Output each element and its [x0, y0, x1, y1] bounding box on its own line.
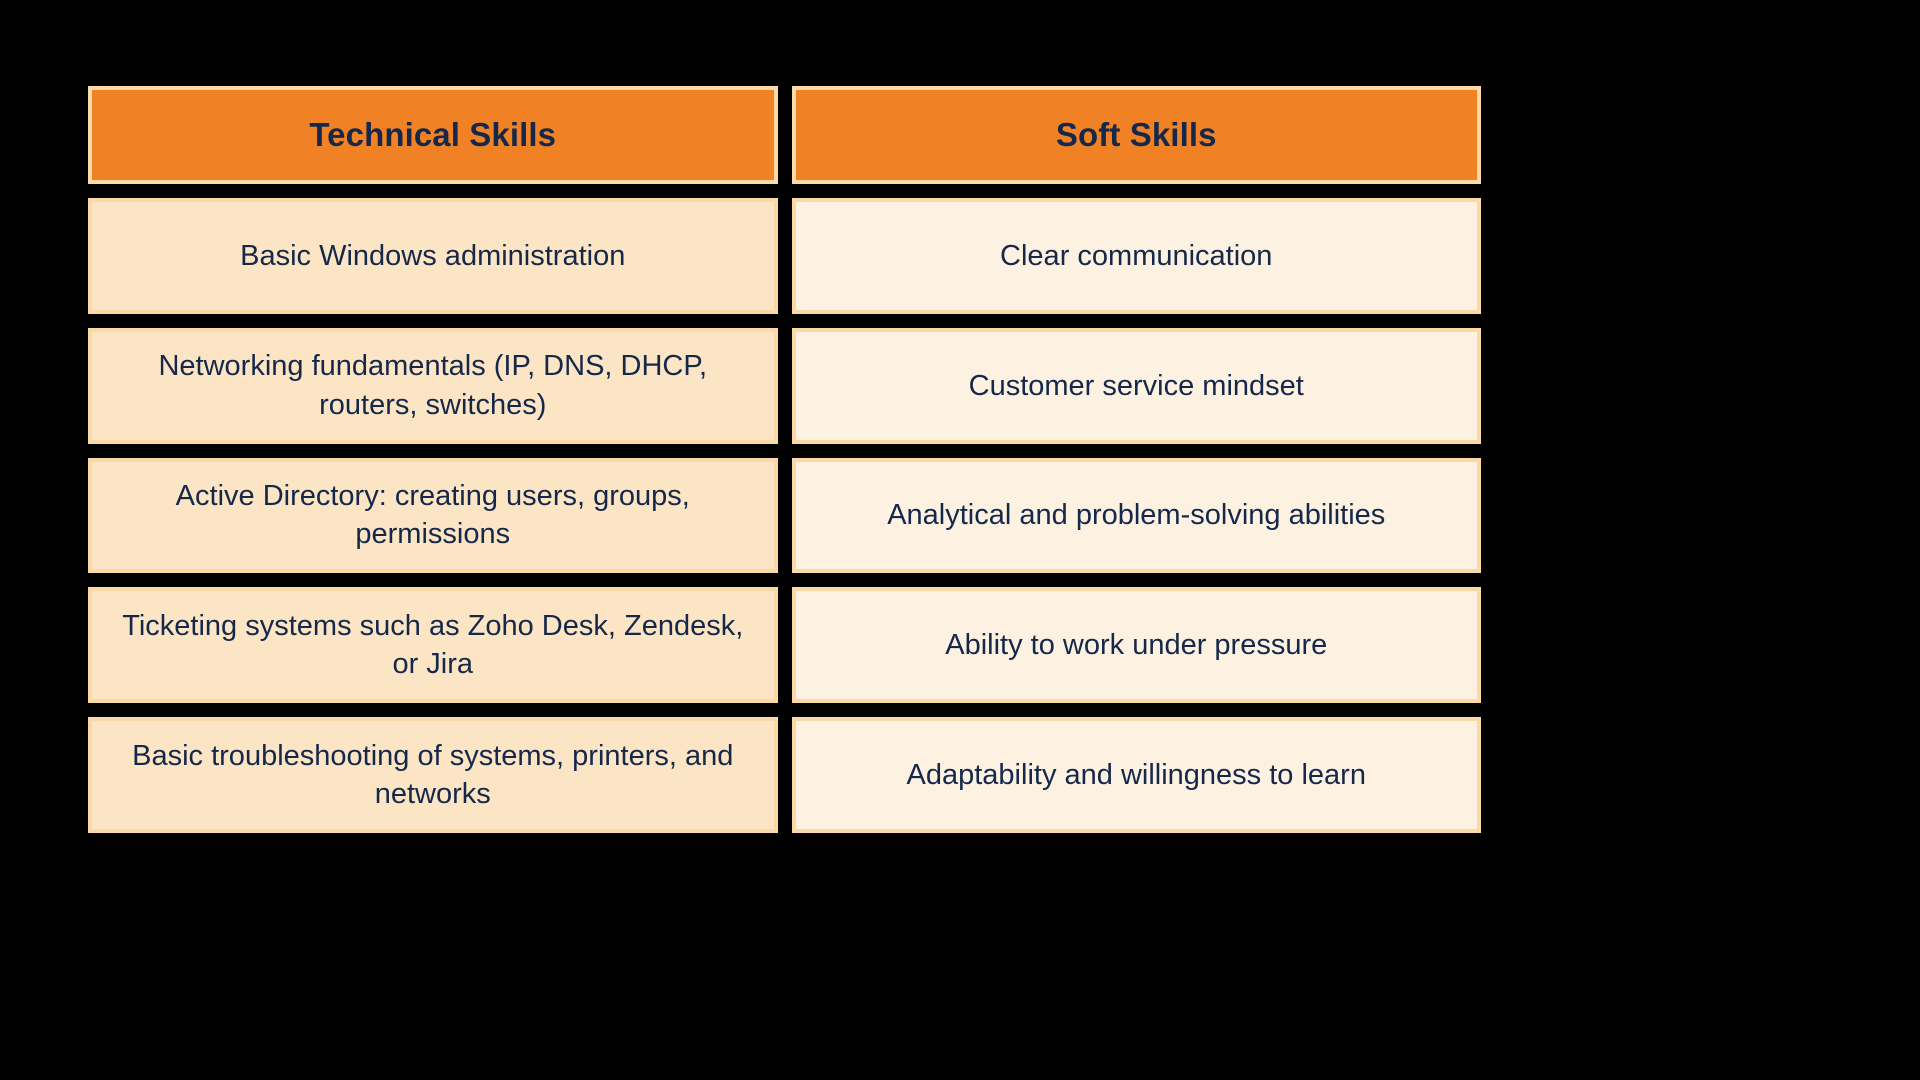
table-row: Active Directory: creating users, groups…	[88, 458, 778, 574]
column-soft-skills: Soft Skills Clear communication Customer…	[792, 86, 1482, 833]
slide-canvas: Technical Skills Basic Windows administr…	[0, 0, 1920, 1080]
column-header-soft-skills: Soft Skills	[792, 86, 1482, 184]
column-header-label: Technical Skills	[309, 116, 556, 154]
cell-label: Networking fundamentals (IP, DNS, DHCP, …	[110, 347, 756, 424]
skills-comparison-table: Technical Skills Basic Windows administr…	[88, 86, 1481, 833]
cell-label: Ticketing systems such as Zoho Desk, Zen…	[110, 607, 756, 684]
cell-label: Active Directory: creating users, groups…	[110, 477, 756, 554]
table-row: Ticketing systems such as Zoho Desk, Zen…	[88, 587, 778, 703]
table-row: Networking fundamentals (IP, DNS, DHCP, …	[88, 328, 778, 444]
table-row: Analytical and problem-solving abilities	[792, 458, 1482, 574]
column-header-label: Soft Skills	[1056, 116, 1217, 154]
cell-label: Analytical and problem-solving abilities	[887, 496, 1385, 534]
column-technical-skills: Technical Skills Basic Windows administr…	[88, 86, 778, 833]
cell-label: Basic Windows administration	[240, 237, 625, 275]
table-row: Adaptability and willingness to learn	[792, 717, 1482, 833]
table-row: Customer service mindset	[792, 328, 1482, 444]
table-row: Ability to work under pressure	[792, 587, 1482, 703]
cell-label: Ability to work under pressure	[945, 626, 1327, 664]
cell-label: Clear communication	[1000, 237, 1272, 275]
table-row: Clear communication	[792, 198, 1482, 314]
column-header-technical-skills: Technical Skills	[88, 86, 778, 184]
cell-label: Adaptability and willingness to learn	[907, 756, 1366, 794]
table-row: Basic Windows administration	[88, 198, 778, 314]
cell-label: Basic troubleshooting of systems, printe…	[110, 737, 756, 814]
table-row: Basic troubleshooting of systems, printe…	[88, 717, 778, 833]
cell-label: Customer service mindset	[969, 367, 1304, 405]
